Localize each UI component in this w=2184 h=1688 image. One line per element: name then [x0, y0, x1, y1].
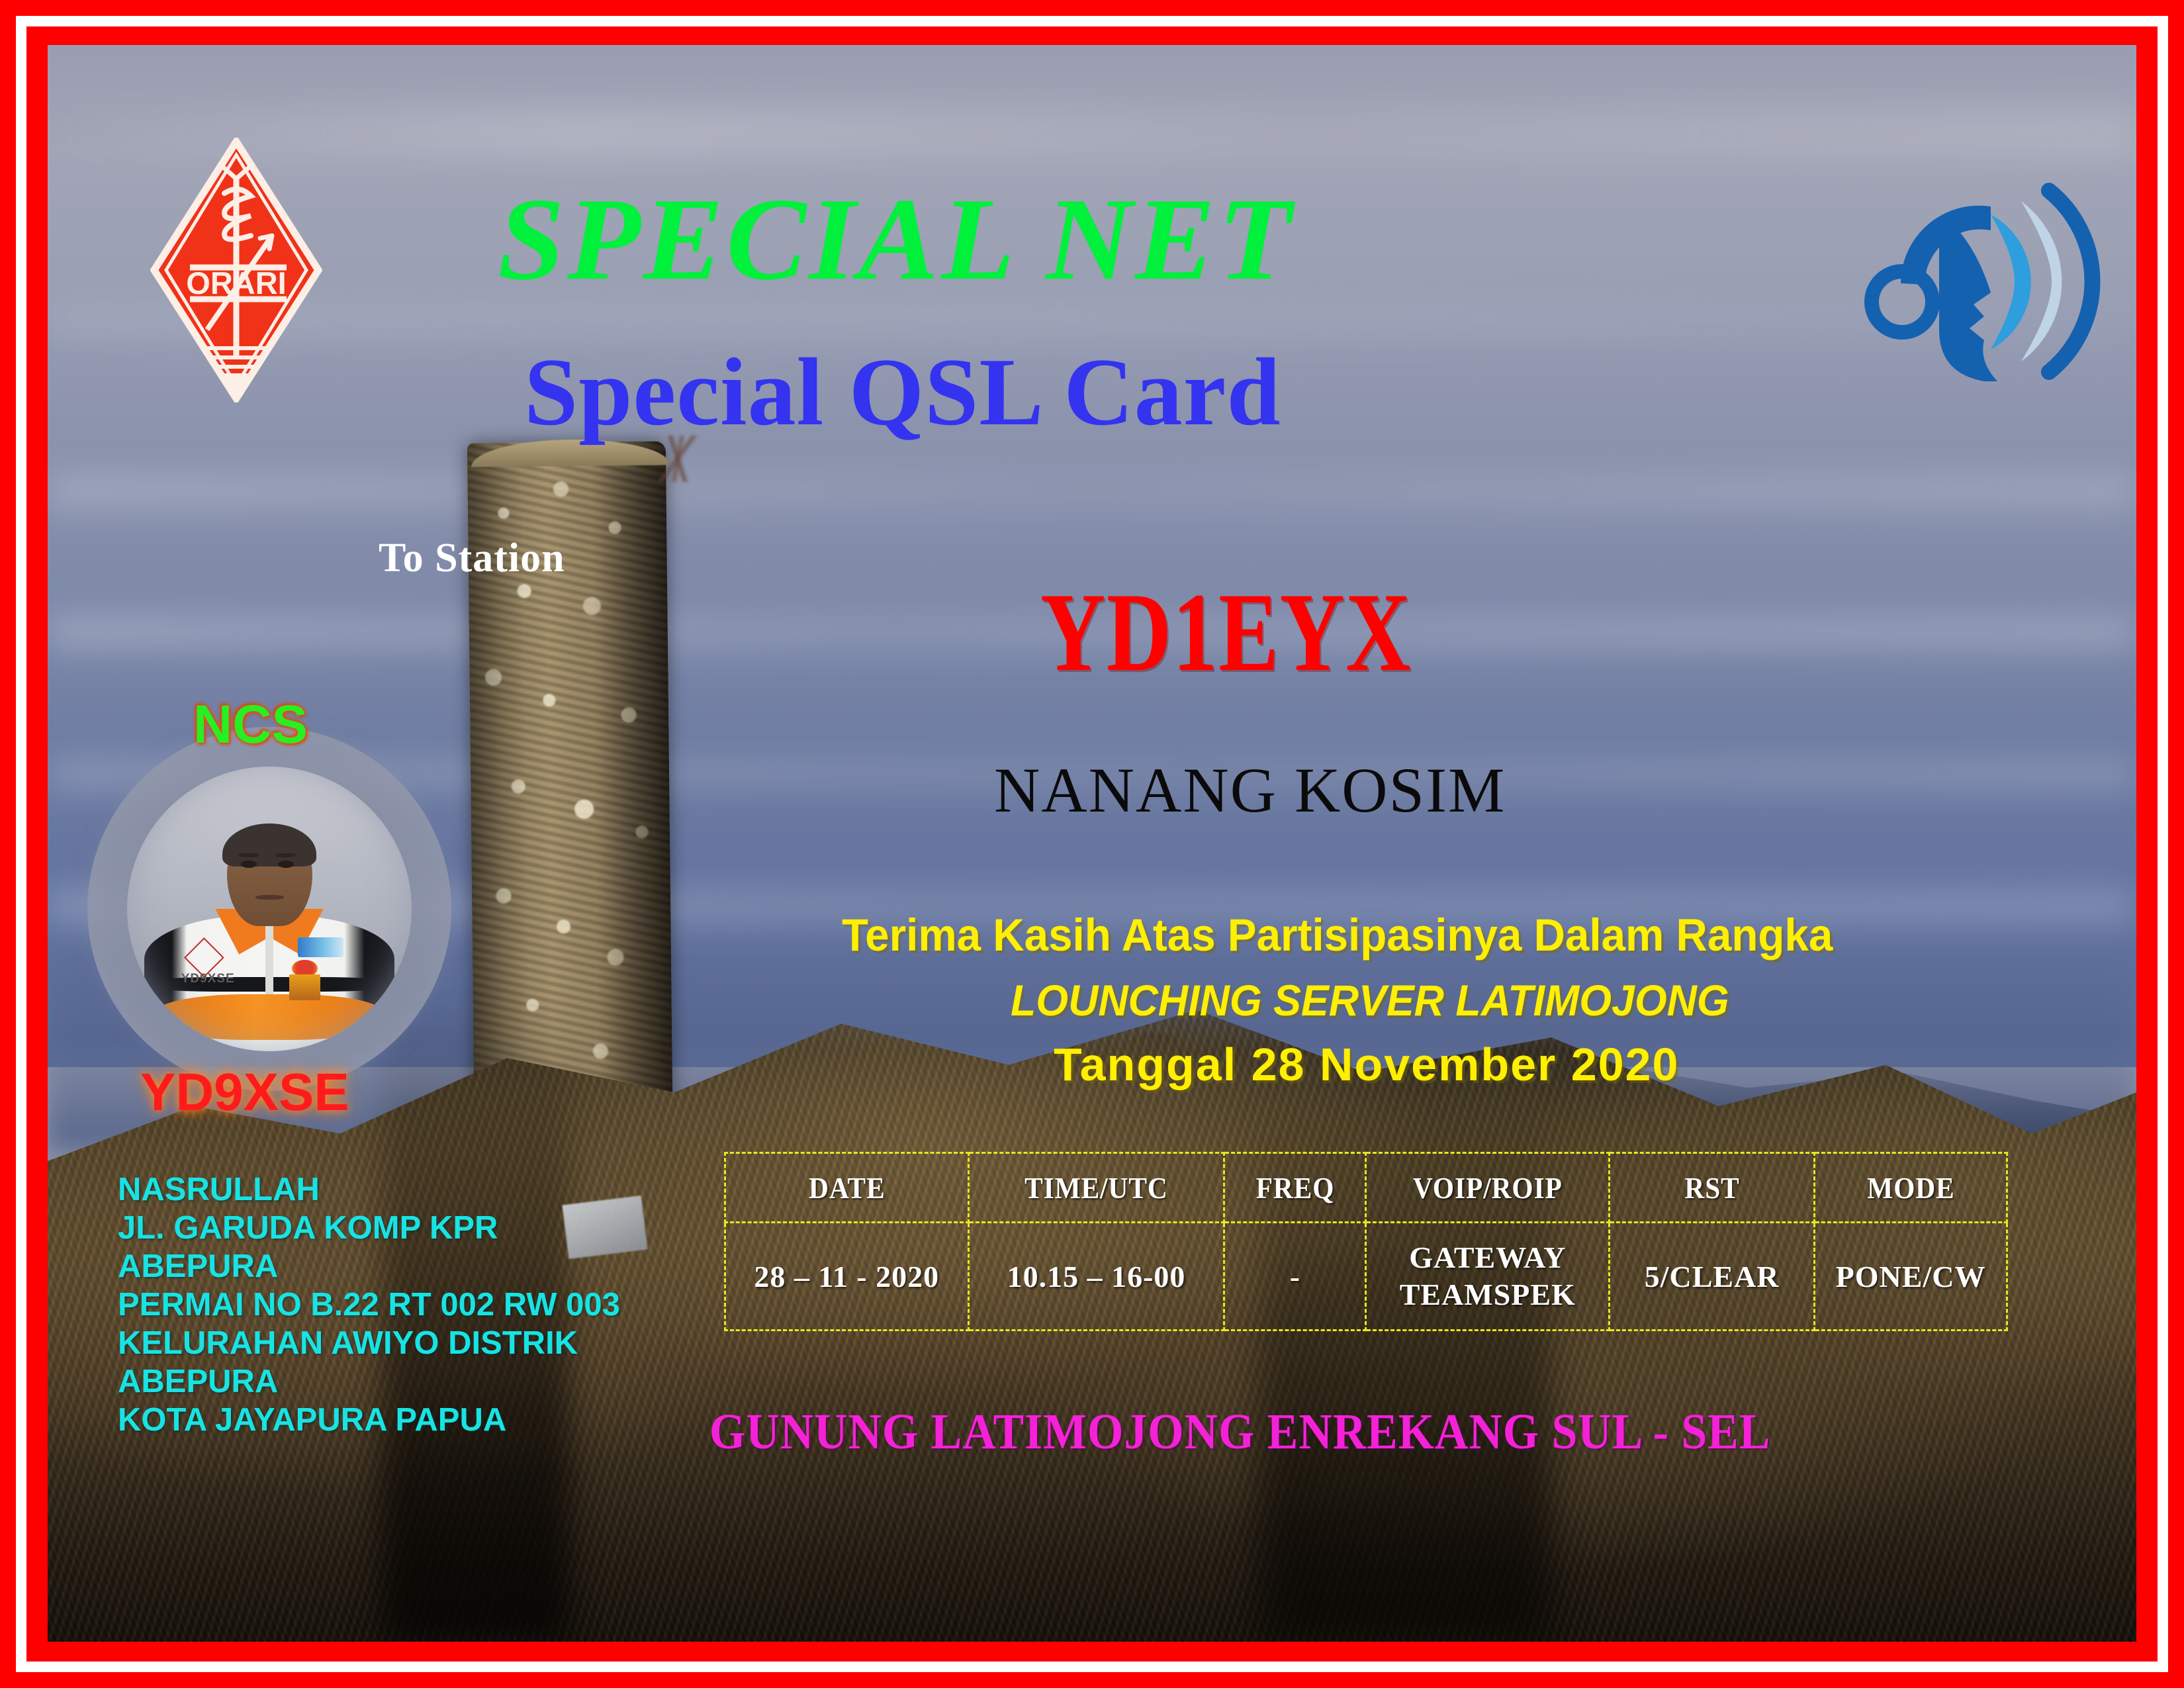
card-background-photo: ORARI [48, 45, 2136, 1642]
uniform-callsign-text: YD9XSE [181, 972, 235, 986]
page-title: SPECIAL NET [498, 171, 1294, 307]
address-line: ABEPURA [118, 1362, 620, 1401]
footer-website: Address : amatir.latimojong.com [1325, 1632, 1975, 1642]
address-line: JL. GARUDA KOMP KPR [118, 1209, 620, 1247]
operator-photo: YD9XSE [127, 767, 412, 1051]
orari-logo: ORARI [150, 138, 322, 402]
address-line: KOTA JAYAPURA PAPUA [118, 1401, 620, 1439]
cell-voip-roip: GATEWAY TEAMSPEK [1366, 1223, 1610, 1331]
headset-profile-icon [1861, 151, 2113, 389]
cell-rst: 5/CLEAR [1610, 1223, 1815, 1331]
table-row: 28 – 11 - 2020 10.15 – 16-00 - GATEWAY T… [725, 1223, 2007, 1331]
thanks-line-1: Terima Kasih Atas Partisipasinya Dalam R… [842, 909, 1833, 961]
cell-voip-line1: GATEWAY [1367, 1239, 1608, 1276]
event-date: Tanggal 28 November 2020 [1054, 1038, 1679, 1091]
column-header-date: DATE [737, 1153, 956, 1223]
address-line: NASRULLAH [118, 1170, 620, 1209]
column-header-rst: RST [1619, 1153, 1804, 1223]
cell-date: 28 – 11 - 2020 [725, 1223, 969, 1331]
address-line: ABEPURA [118, 1247, 620, 1286]
cell-time: 10.15 – 16-00 [968, 1223, 1224, 1331]
station-callsign: YD1EYX [1040, 568, 1412, 697]
mailing-address: NASRULLAH JL. GARUDA KOMP KPR ABEPURA PE… [118, 1170, 620, 1439]
ncs-label: NCS [193, 694, 308, 756]
page-subtitle: Special QSL Card [524, 336, 1281, 447]
cell-voip-line2: TEAMSPEK [1367, 1276, 1608, 1313]
cloud-streak [48, 476, 2136, 506]
footer-slogan: "AMATIR RADIO ADALAH PROGRESIVE" [127, 1630, 1041, 1642]
to-station-label: To Station [379, 535, 565, 582]
uniform-logo-patch [298, 937, 343, 957]
ncs-callsign: YD9XSE [140, 1062, 349, 1123]
cell-freq: - [1224, 1223, 1366, 1331]
operator-name: NANANG KOSIM [994, 753, 1506, 827]
cloud-streak [48, 109, 2136, 155]
address-line: KELURAHAN AWIYO DISTRIK [118, 1324, 620, 1362]
column-header-time: TIME/UTC [981, 1153, 1211, 1223]
qsl-card: ORARI [0, 0, 2184, 1688]
address-line: PERMAI NO B.22 RT 002 RW 003 [118, 1286, 620, 1324]
table-header-row: DATE TIME/UTC FREQ VOIP/ROIP RST MODE [725, 1153, 2007, 1223]
orari-logo-text: ORARI [186, 265, 286, 301]
column-header-voip-roip: VOIP/ROIP [1378, 1153, 1597, 1223]
thanks-line-2: LOUNCHING SERVER LATIMOJONG [1011, 975, 1729, 1025]
qso-table: DATE TIME/UTC FREQ VOIP/ROIP RST MODE 28… [724, 1152, 2008, 1331]
column-header-freq: FREQ [1232, 1153, 1359, 1223]
cell-mode: PONE/CW [1815, 1223, 2007, 1331]
column-header-mode: MODE [1824, 1153, 1997, 1223]
location-caption: GUNUNG LATIMOJONG ENREKANG SUL - SEL [709, 1403, 1770, 1461]
